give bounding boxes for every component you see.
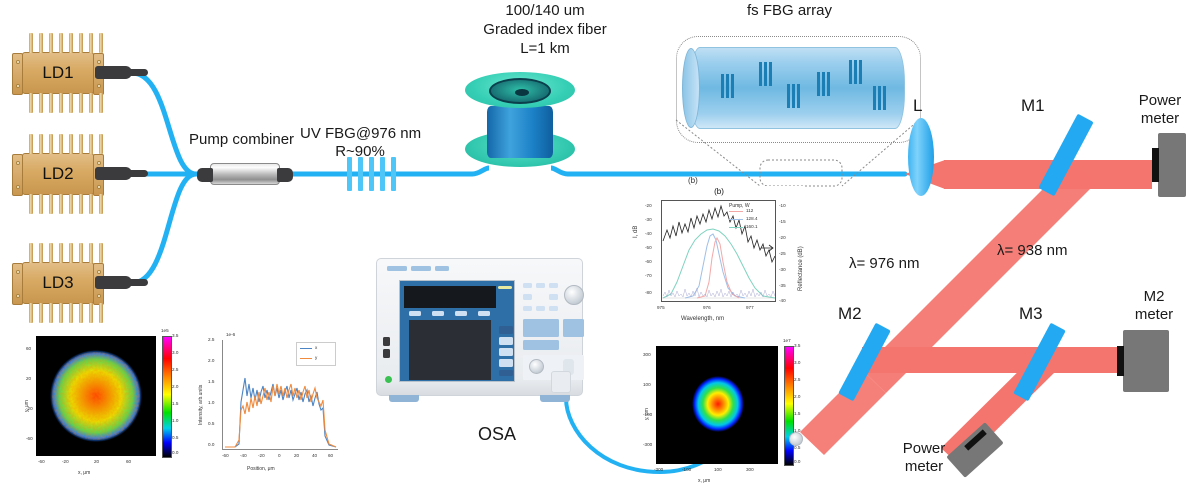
osa-key-a3[interactable] bbox=[549, 283, 558, 288]
far-field-xtick-4: 100 bbox=[714, 467, 722, 472]
near-field-ytick-2: 20 bbox=[26, 376, 31, 381]
spectrum-ylabel-right: Reflectance (dB) bbox=[798, 246, 804, 291]
osa-softkey-top-3[interactable] bbox=[455, 311, 467, 316]
profile-ytick-2: 1.0 bbox=[208, 400, 214, 405]
power-meter-top-sensor bbox=[1152, 148, 1159, 182]
wavelength-938-label: λ= 938 nm bbox=[997, 242, 1067, 259]
spectrum-ytick-4: -60 bbox=[645, 259, 652, 264]
osa-softkey-side-3[interactable] bbox=[499, 348, 513, 356]
profile-axes: x y bbox=[222, 340, 338, 450]
panel-b-marker: (b) bbox=[688, 176, 698, 185]
wavelength-976-label: λ= 976 nm bbox=[849, 255, 919, 272]
spectrum-ytick-right-2: -20 bbox=[779, 235, 786, 240]
far-field-image bbox=[656, 346, 778, 464]
far-field-profile-panel: 1e7 3.5 3.0 2.5 2.0 1.5 1.0 0.5 0.0 x, μ… bbox=[640, 342, 812, 489]
far-field-cbar-exponent: 1e7 bbox=[783, 338, 791, 343]
osa-usb-1[interactable] bbox=[383, 337, 390, 346]
spectrum-ytick-6: -80 bbox=[645, 290, 652, 295]
osa-foot-right bbox=[540, 395, 570, 402]
far-field-spot bbox=[656, 346, 778, 464]
osa-top-indicator-3 bbox=[435, 266, 449, 271]
profile-exponent: 1e-6 bbox=[226, 332, 235, 337]
osa-key-c1[interactable] bbox=[523, 306, 532, 311]
osa-readout-bar bbox=[404, 286, 496, 308]
profile-xtick-1: -40 bbox=[240, 453, 247, 458]
profile-ylabel: Intensity, arb.units bbox=[198, 385, 204, 425]
osa-key-a2[interactable] bbox=[536, 283, 545, 288]
spectrum-legend-2: 160.1 bbox=[746, 224, 758, 229]
m2-meter-label-line1: M2 bbox=[1108, 288, 1200, 305]
power-meter-top-label-line1: Power bbox=[1120, 92, 1200, 109]
lens-label: L bbox=[913, 96, 922, 116]
spectrum-legend-swatch-1 bbox=[729, 219, 743, 220]
profile-legend-y: y bbox=[315, 355, 317, 360]
near-field-colorbar bbox=[162, 336, 172, 458]
power-meter-top-label-line2: meter bbox=[1120, 110, 1200, 127]
profile-ytick-1: 0.5 bbox=[208, 421, 214, 426]
profile-legend: x y bbox=[296, 342, 336, 366]
spectrum-ytick-5: -70 bbox=[645, 273, 652, 278]
spectrum-ytick-right-5: -35 bbox=[779, 283, 786, 288]
far-field-cbar-tick-2: 2.5 bbox=[794, 377, 800, 382]
far-field-xtick-0: -300 bbox=[654, 467, 663, 472]
spectrum-xtick-0: 975 bbox=[657, 305, 665, 310]
osa-top-indicator-2 bbox=[411, 266, 431, 271]
osa-power-led bbox=[385, 376, 392, 383]
near-field-xtick-2: -20 bbox=[62, 459, 69, 464]
osa-keypad-lower[interactable] bbox=[523, 340, 559, 350]
profile-ytick-4: 2.0 bbox=[208, 358, 214, 363]
osa-display[interactable] bbox=[399, 280, 515, 382]
mirror3-label: M3 bbox=[1019, 304, 1043, 324]
near-field-profile-panel: 1e5 3.5 3.0 2.5 2.0 1.5 1.0 0.5 0.0 x, μ… bbox=[18, 330, 183, 485]
osa-softkey-side-4[interactable] bbox=[499, 359, 513, 367]
profile-xtick-0: -60 bbox=[222, 453, 229, 458]
near-field-ytick-0: 60 bbox=[26, 346, 31, 351]
far-field-xlabel: x, μm bbox=[698, 478, 710, 484]
far-field-ytick-4: -100 bbox=[643, 412, 652, 417]
intensity-profile-panel: 1e-6 x y 2.5 2.0 1.5 1.0 0.5 0.0 -60 -40… bbox=[192, 330, 352, 485]
spectrum-xtick-1: 976 bbox=[703, 305, 711, 310]
profile-legend-x: x bbox=[315, 345, 317, 350]
near-field-cbar-tick-7: 0.0 bbox=[172, 450, 178, 455]
near-field-xtick-4: 20 bbox=[94, 459, 99, 464]
osa-softkey-side-5[interactable] bbox=[499, 370, 513, 376]
spectrum-legend-swatch-2 bbox=[729, 227, 743, 228]
near-field-cbar-tick-2: 2.5 bbox=[172, 367, 178, 372]
spectrum-ylabel: I, dB bbox=[633, 226, 639, 238]
near-field-cbar-tick-1: 3.0 bbox=[172, 350, 178, 355]
near-field-xlabel: x, μm bbox=[78, 470, 90, 476]
near-field-xtick-6: 60 bbox=[126, 459, 131, 464]
collimating-lens[interactable] bbox=[908, 118, 934, 196]
far-field-cbar-tick-3: 2.0 bbox=[794, 394, 800, 399]
osa-softkey-top-1[interactable] bbox=[409, 311, 421, 316]
profile-ytick-3: 1.5 bbox=[208, 379, 214, 384]
osa-marker-readout bbox=[498, 286, 512, 289]
profile-xtick-3: 0 bbox=[278, 453, 281, 458]
near-field-cbar-tick-5: 1.0 bbox=[172, 418, 178, 423]
near-field-speckle bbox=[36, 336, 156, 456]
spectrum-xtick-2: 977 bbox=[746, 305, 754, 310]
far-field-colorbar bbox=[784, 346, 794, 466]
osa-key-c3[interactable] bbox=[549, 306, 558, 311]
osa-softkey-top-4[interactable] bbox=[478, 311, 490, 316]
near-field-cbar-tick-4: 1.5 bbox=[172, 401, 178, 406]
spectrum-ytick-right-0: -10 bbox=[779, 203, 786, 208]
mirror2-label: M2 bbox=[838, 304, 862, 324]
m2-meter[interactable] bbox=[1123, 330, 1169, 392]
profile-xtick-2: -20 bbox=[258, 453, 265, 458]
near-field-ytick-4: -20 bbox=[26, 406, 33, 411]
spectrum-ytick-3: -50 bbox=[645, 245, 652, 250]
profile-legend-swatch-x bbox=[300, 348, 312, 349]
m2-meter-label-line2: meter bbox=[1108, 306, 1200, 323]
osa-keypad-left[interactable] bbox=[523, 319, 559, 337]
profile-xtick-5: 40 bbox=[312, 453, 317, 458]
far-field-cbar-tick-0: 3.5 bbox=[794, 343, 800, 348]
osa-top-indicator-1 bbox=[387, 266, 407, 271]
osa-keypad-right[interactable] bbox=[563, 319, 584, 337]
profile-xtick-6: 60 bbox=[328, 453, 333, 458]
osa-connector-housing bbox=[551, 371, 571, 393]
osa-softkey-side-2[interactable] bbox=[499, 337, 513, 345]
spectrum-traces bbox=[633, 186, 805, 334]
far-field-ytick-2: 100 bbox=[643, 382, 651, 387]
osa-softkey-top-2[interactable] bbox=[432, 311, 444, 316]
osa-softkey-side-1[interactable] bbox=[499, 326, 513, 334]
profile-ytick-5: 2.5 bbox=[208, 337, 214, 342]
power-meter-top[interactable] bbox=[1158, 133, 1186, 197]
camera-head[interactable] bbox=[789, 432, 803, 446]
near-field-cbar-exponent: 1e5 bbox=[161, 328, 169, 333]
spectrum-ytick-right-3: -25 bbox=[779, 251, 786, 256]
osa-key-b2[interactable] bbox=[549, 294, 558, 300]
mirror1-label: M1 bbox=[1021, 96, 1045, 116]
near-field-cbar-tick-3: 2.0 bbox=[172, 384, 178, 389]
osa-label: OSA bbox=[478, 424, 516, 445]
spectrum-ytick-0: -20 bbox=[645, 203, 652, 208]
spectrum-legend-0: 112 bbox=[746, 208, 753, 213]
profile-legend-swatch-y bbox=[300, 358, 312, 359]
far-field-xtick-6: 300 bbox=[746, 467, 754, 472]
spectrum-ytick-right-1: -15 bbox=[779, 219, 786, 224]
osa-foot-left bbox=[389, 395, 419, 402]
osa-key-a1[interactable] bbox=[523, 283, 532, 288]
near-field-ytick-6: -60 bbox=[26, 436, 33, 441]
near-field-cbar-tick-6: 0.5 bbox=[172, 435, 178, 440]
osa-key-b1[interactable] bbox=[523, 294, 532, 300]
profile-xlabel: Position, μm bbox=[247, 466, 275, 472]
osa-rotary-knob[interactable] bbox=[564, 285, 584, 305]
far-field-cbar-tick-1: 3.0 bbox=[794, 360, 800, 365]
spectrum-ytick-right-4: -30 bbox=[779, 267, 786, 272]
spectrum-ytick-right-6: -40 bbox=[779, 298, 786, 303]
near-field-image bbox=[36, 336, 156, 456]
spectrum-xlabel: Wavelength, nm bbox=[681, 316, 724, 322]
far-field-cbar-tick-7: 0.0 bbox=[794, 459, 800, 464]
osa-usb-2[interactable] bbox=[383, 349, 390, 358]
near-field-cbar-tick-0: 3.5 bbox=[172, 333, 178, 338]
far-field-ytick-0: 300 bbox=[643, 352, 651, 357]
near-field-xtick-0: -60 bbox=[38, 459, 45, 464]
spectrum-legend-swatch-0 bbox=[729, 211, 743, 212]
spectrum-ytick-2: -40 bbox=[645, 231, 652, 236]
far-field-xtick-2: -100 bbox=[682, 467, 691, 472]
osa-key-c2[interactable] bbox=[536, 306, 545, 311]
far-field-cbar-tick-4: 1.5 bbox=[794, 411, 800, 416]
profile-ytick-0: 0.0 bbox=[208, 442, 214, 447]
setup-diagram: LD1 LD2 LD3 Pump combiner UV FBG@976 nm … bbox=[0, 0, 1200, 489]
m2-meter-sensor bbox=[1117, 346, 1124, 376]
spectrum-panel: (b) -20 -30 -40 -50 bbox=[633, 186, 805, 334]
profile-xtick-4: 20 bbox=[294, 453, 299, 458]
spectrum-legend-1: 128.4 bbox=[746, 216, 758, 221]
far-field-ytick-6: -300 bbox=[643, 442, 652, 447]
osa-trace-area bbox=[409, 320, 491, 380]
spectrum-ytick-1: -30 bbox=[645, 217, 652, 222]
osa-optical-input-port[interactable] bbox=[529, 359, 544, 374]
